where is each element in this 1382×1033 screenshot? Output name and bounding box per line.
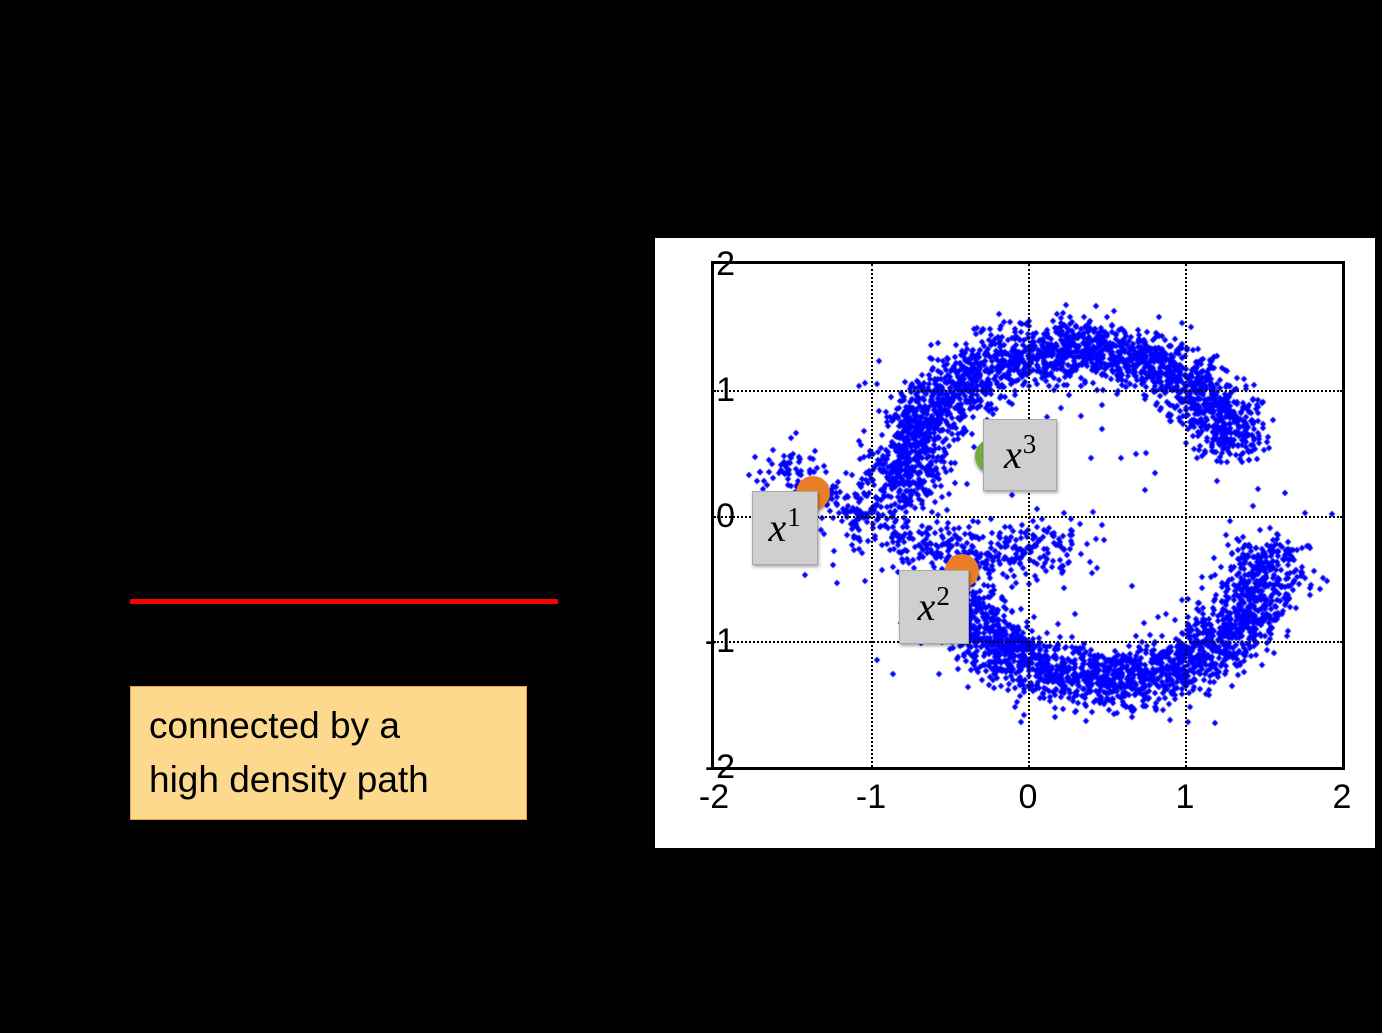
x2-label-superscript: 2	[936, 583, 950, 610]
x2-label-base: x	[918, 587, 936, 627]
y-tick-label: 1	[691, 373, 735, 407]
x3-label: x3	[983, 419, 1057, 491]
x1-label-superscript: 1	[787, 504, 801, 531]
gridline-horizontal	[714, 641, 1342, 643]
x3-label-superscript: 3	[1023, 431, 1037, 458]
x1-label-base: x	[769, 508, 787, 548]
callout-box: connected by a high density path	[130, 686, 527, 820]
x1-label: x1	[752, 491, 818, 565]
slide-canvas: connected by a high density path -2-1012…	[0, 0, 1382, 1033]
gridline-horizontal	[714, 390, 1342, 392]
x-tick-label: 2	[1333, 780, 1352, 814]
figure-panel: -2-1012210-1-2 x1x2x3	[655, 238, 1375, 848]
callout-line-1: connected by a	[149, 699, 508, 753]
y-tick-label: -2	[691, 750, 735, 784]
red-divider-rule	[130, 599, 558, 604]
x-tick-label: 0	[1019, 780, 1038, 814]
y-tick-label: 2	[691, 247, 735, 281]
x2-label: x2	[899, 570, 969, 644]
callout-line-2: high density path	[149, 753, 508, 807]
x3-label-base: x	[1004, 435, 1022, 475]
y-tick-label: 0	[691, 499, 735, 533]
y-tick-label: -1	[691, 624, 735, 658]
x-tick-label: 1	[1176, 780, 1195, 814]
x-tick-label: -1	[856, 780, 886, 814]
